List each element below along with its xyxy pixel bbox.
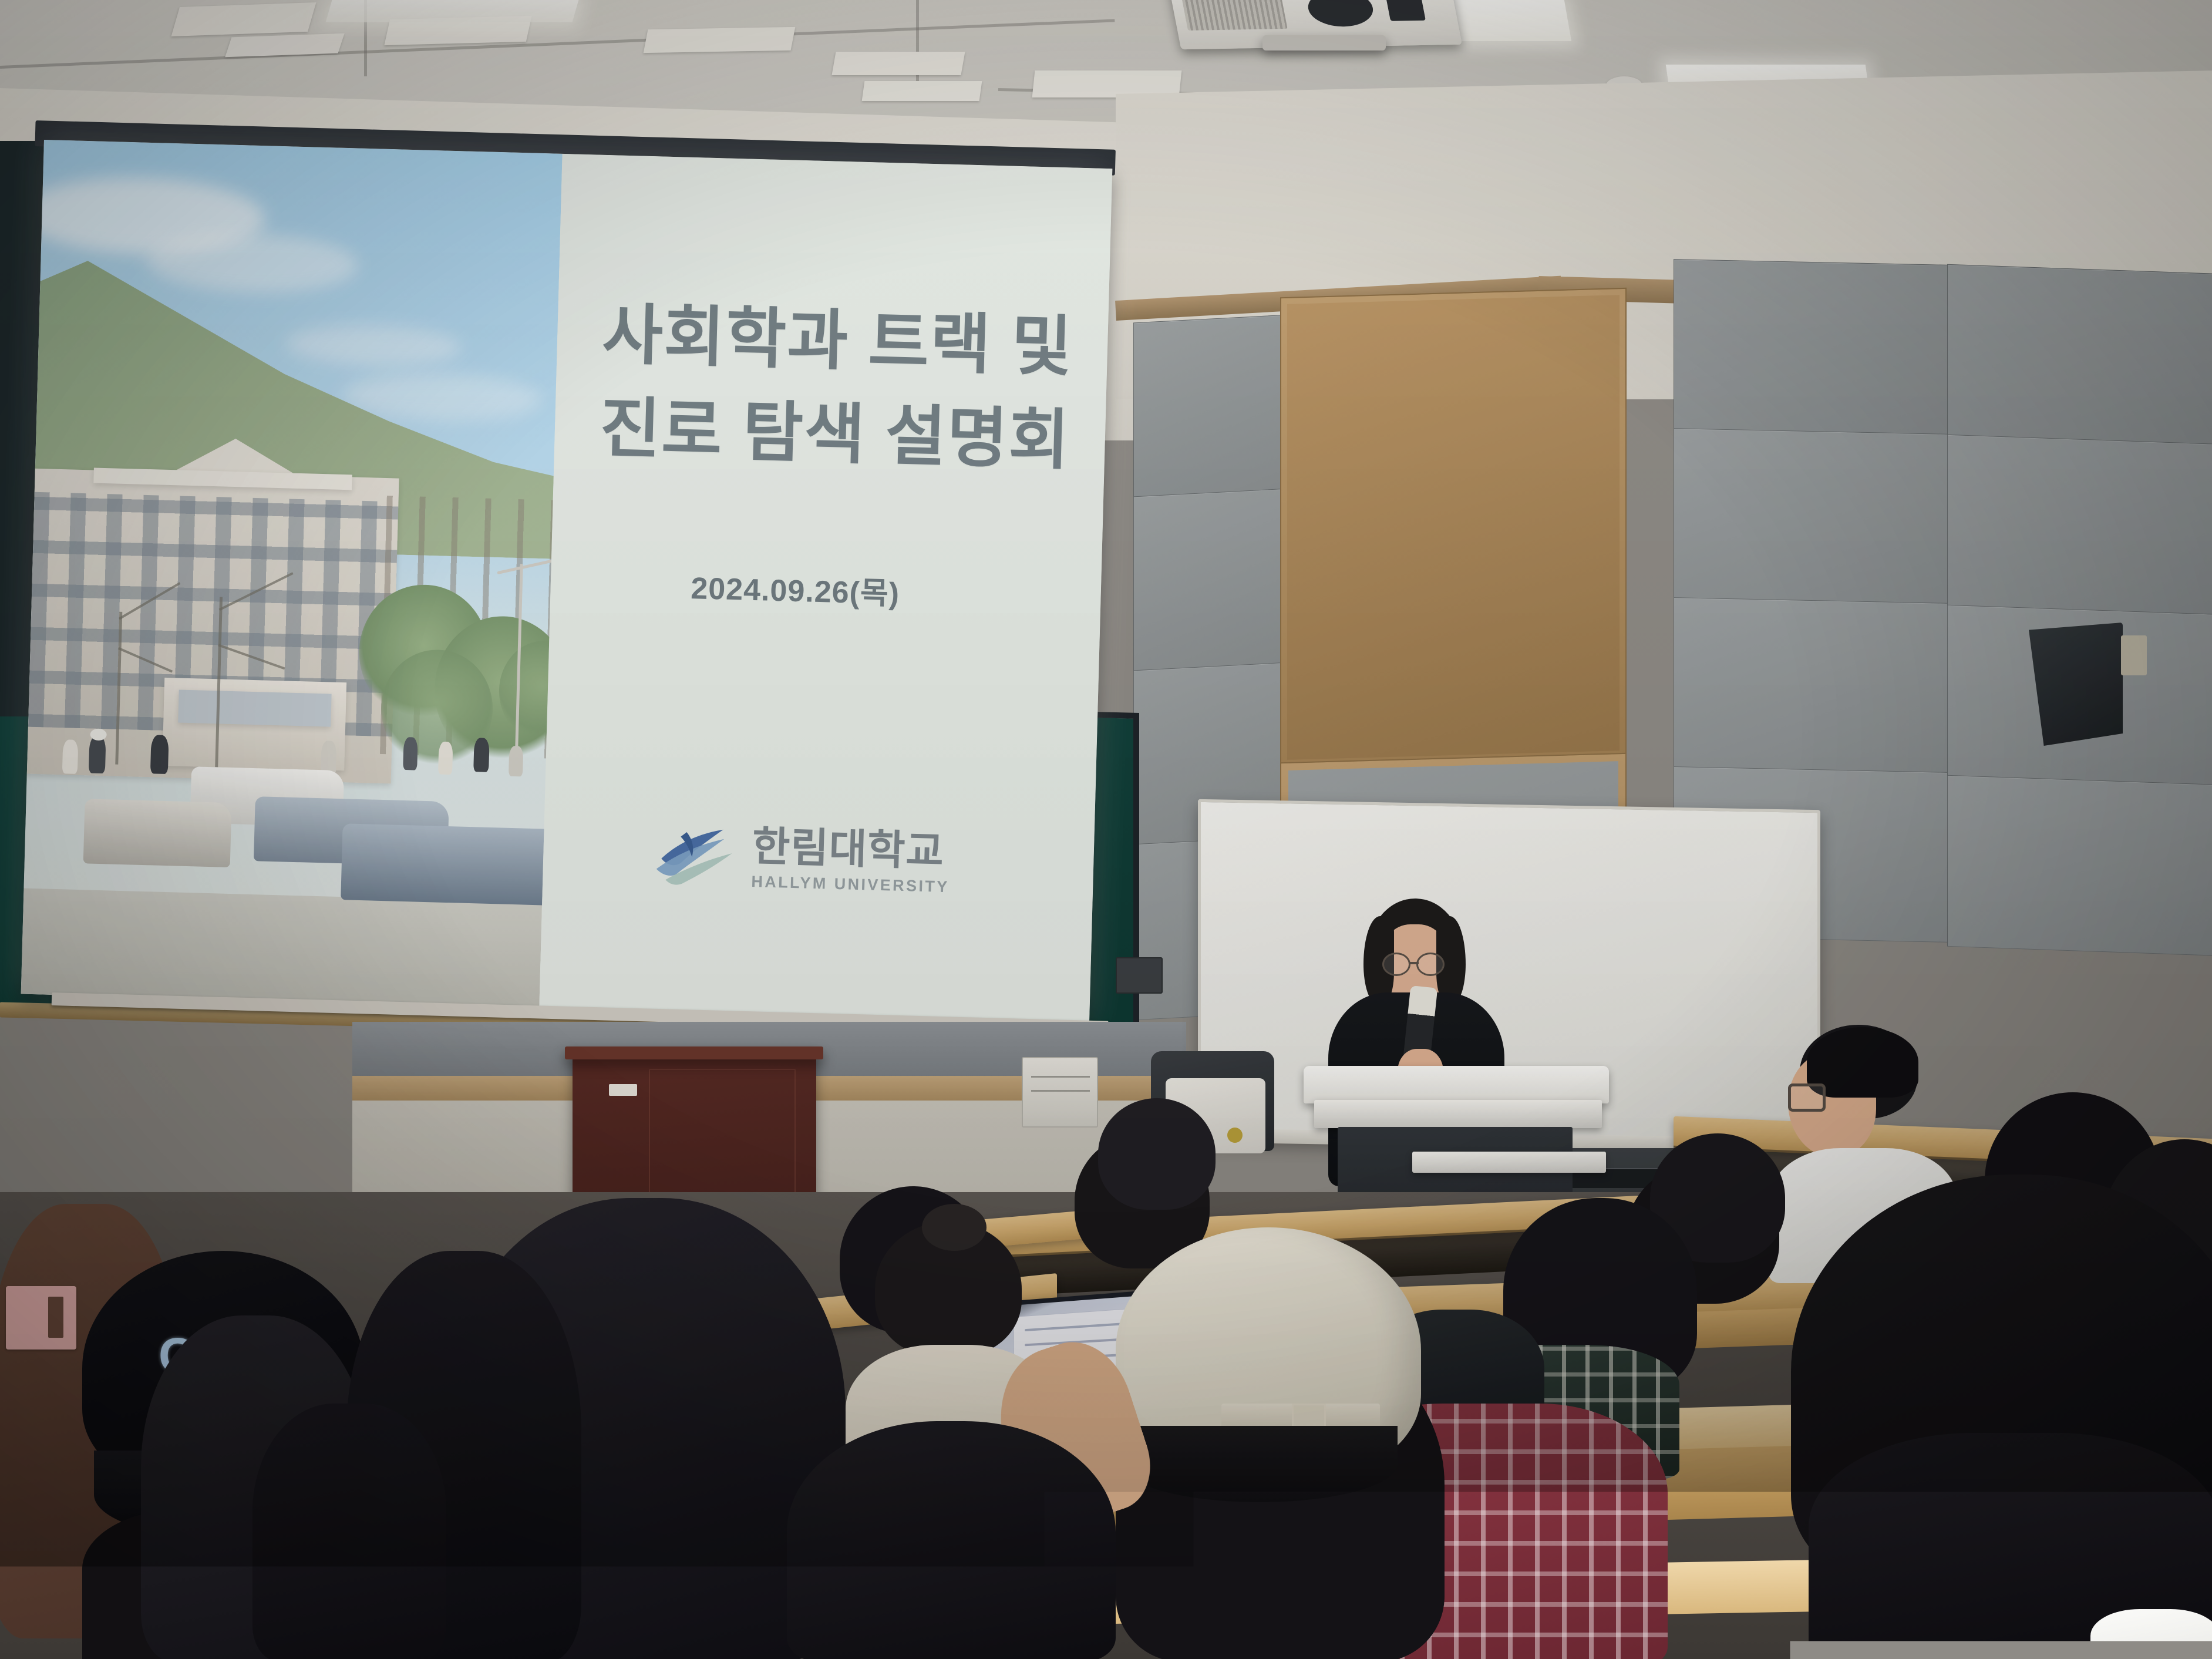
wall-speaker [2029,622,2123,746]
chair-badge [1227,1128,1243,1143]
wood-lectern-top [565,1046,823,1059]
wall-control-box[interactable] [1022,1057,1098,1128]
hallym-university-logo: 한림대학교 HALLYM UNIVERSITY [652,823,951,896]
pink-hair-clip [6,1286,76,1350]
parked-car [341,823,562,906]
presenter-glasses [1416,953,1445,976]
speaker-bracket [2121,635,2147,675]
audience-light-shirt-bottom-left [70,1597,317,1659]
slide-title-line2: 진로 탐색 설명회 [598,381,1072,487]
logo-english-name: HALLYM UNIVERSITY [751,874,950,895]
audience-student-bottom-right [1809,1433,2212,1659]
seated-man-glasses [1788,1083,1826,1112]
audience-student-cream-cap [1104,1227,1456,1659]
slide-text-panel: 사회학과 트랙 및 진로 탐색 설명회 2024.09.26(목) 한림대학교 … [539,154,1112,1023]
wall-speaker-small [1116,957,1163,994]
podium-top [1304,1066,1609,1103]
podium-lower-shelf [1412,1152,1606,1173]
logo-korean-name: 한림대학교 [752,826,951,872]
parked-car [83,799,232,867]
projector-mount [1262,35,1386,51]
lectern-label [609,1084,637,1096]
presenter-glasses [1382,953,1410,976]
ceiling-light-panel [326,0,579,22]
wood-panel-frame [1280,288,1627,767]
podium-shelf [1314,1100,1602,1128]
cap-brim [1122,1426,1398,1502]
lecture-hall-photograph: 사회학과 트랙 및 진로 탐색 설명회 2024.09.26(목) 한림대학교 … [0,0,2212,1659]
slide-photo [21,140,563,1008]
hair-tie [922,1204,987,1251]
projection-screen: 사회학과 트랙 및 진로 탐색 설명회 2024.09.26(목) 한림대학교 … [21,140,1113,1023]
hallym-wing-icon [652,823,742,890]
slide-title-line1: 사회학과 트랙 및 [601,287,1075,393]
slide-title: 사회학과 트랙 및 진로 탐색 설명회 [598,287,1074,487]
slide-date: 2024.09.26(목) [691,563,901,613]
